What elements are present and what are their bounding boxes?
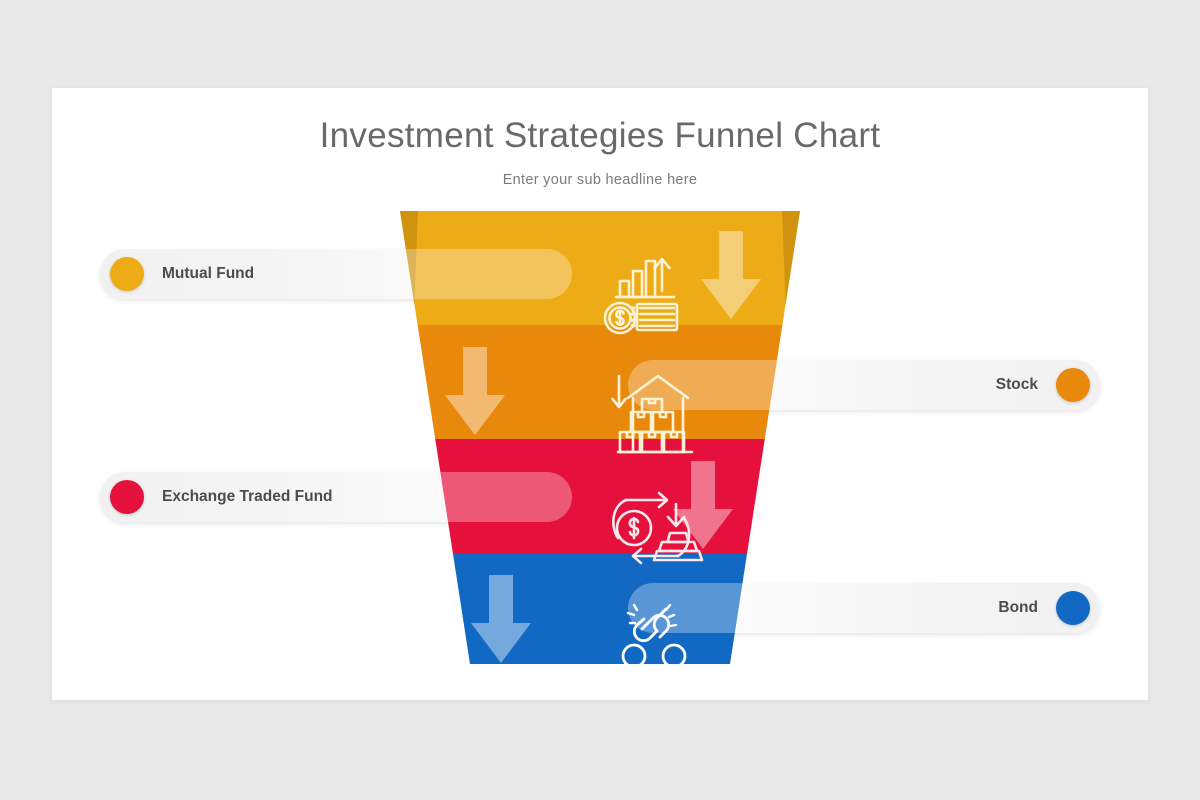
connector-label-bond: Bond	[998, 599, 1038, 617]
connector-label-exchange-traded-fund: Exchange Traded Fund	[162, 488, 333, 506]
connector-label-mutual-fund: Mutual Fund	[162, 265, 254, 283]
connector-dot-bond	[1056, 591, 1090, 625]
connector-stock[interactable]: Stock	[580, 360, 1100, 410]
connector-exchange-traded-fund[interactable]: Exchange Traded Fund	[100, 472, 620, 522]
connector-dot-stock	[1056, 368, 1090, 402]
down-arrow-icon	[701, 231, 761, 319]
connector-label-stock: Stock	[996, 376, 1038, 394]
connector-dot-exchange-traded-fund	[110, 480, 144, 514]
page-subtitle: Enter your sub headline here	[52, 172, 1148, 188]
connector-dot-mutual-fund	[110, 257, 144, 291]
page-title: Investment Strategies Funnel Chart	[52, 116, 1148, 156]
connector-overlay-group	[52, 249, 1148, 633]
down-arrow-icon	[445, 347, 505, 435]
down-arrow-icon	[673, 461, 733, 549]
money-gold-exchange-icon	[613, 493, 702, 563]
connector-mutual-fund[interactable]: Mutual Fund	[100, 249, 620, 299]
slide-card: Investment Strategies Funnel Chart Enter…	[52, 88, 1148, 700]
connector-bond[interactable]: Bond	[580, 583, 1100, 633]
down-arrow-icon	[471, 575, 531, 663]
